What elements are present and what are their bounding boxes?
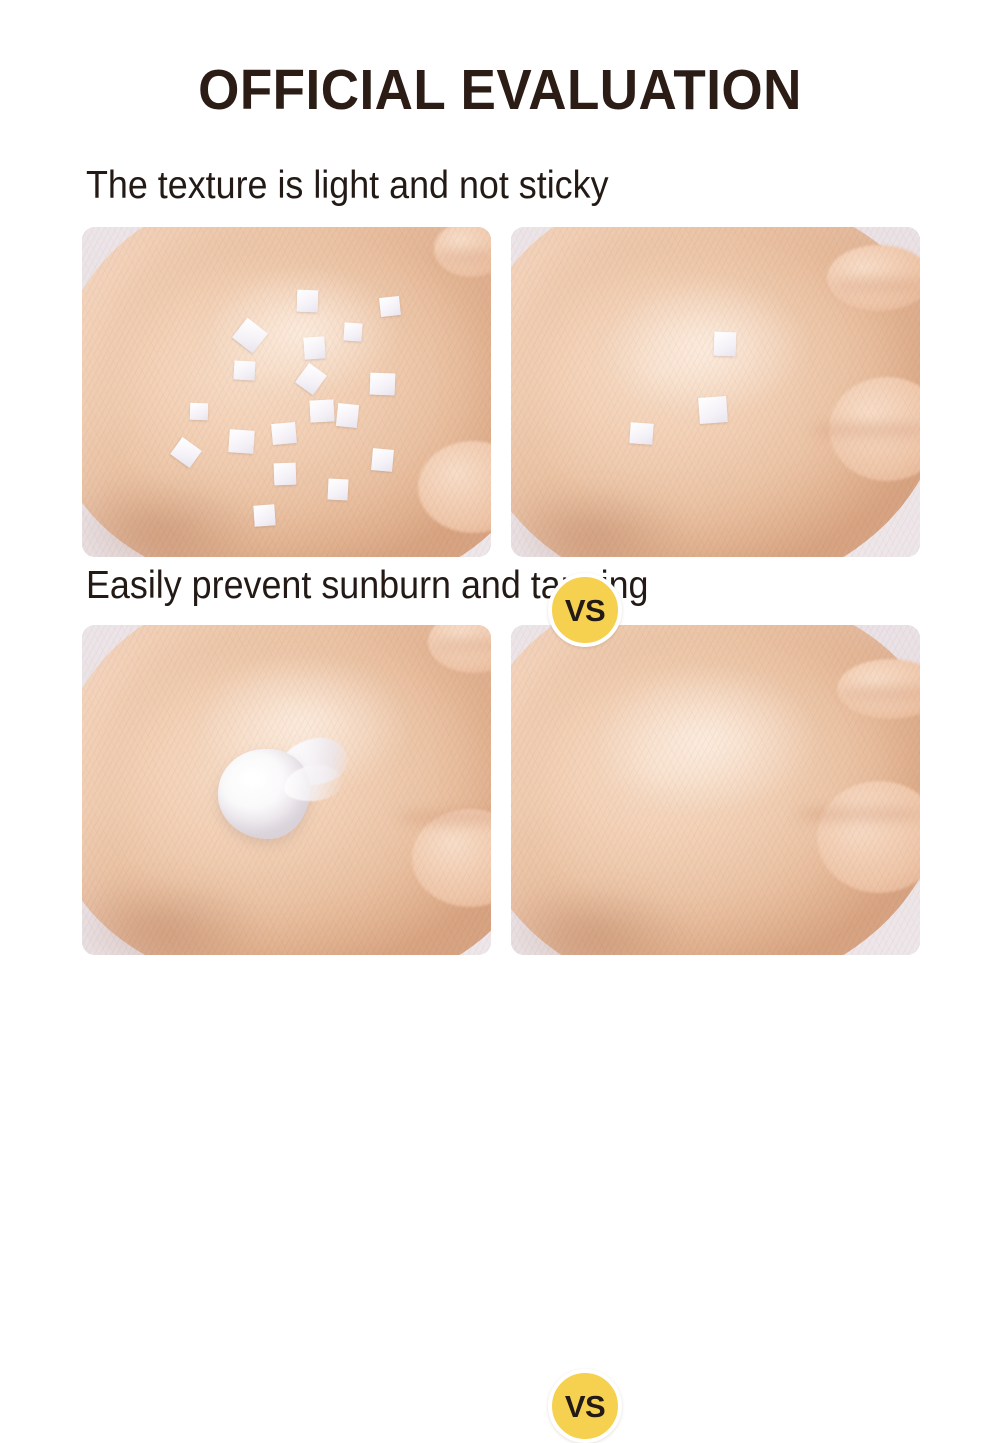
- white-flake: [629, 422, 653, 445]
- page-title: OFFICIAL EVALUATION: [35, 62, 965, 119]
- cream-dollop: [218, 739, 338, 839]
- skin-texture: [82, 227, 491, 557]
- white-flake: [336, 403, 359, 428]
- white-flake: [379, 296, 401, 317]
- panel-absorbed-cream-bare-hand: [511, 625, 920, 955]
- vs-badge-label: VS: [565, 595, 605, 626]
- vs-badge-label: VS: [565, 1391, 605, 1422]
- white-flake: [309, 399, 334, 422]
- photo-hand-with-cream: [82, 625, 491, 955]
- vs-badge-sunburn: VS: [548, 1369, 622, 1443]
- white-flake: [371, 448, 394, 472]
- comparison-row-sunburn: VS: [82, 625, 920, 955]
- product-evaluation-page: OFFICIAL EVALUATION The texture is light…: [0, 0, 1000, 1000]
- skin-texture: [511, 625, 920, 955]
- section-heading-texture: The texture is light and not sticky: [86, 166, 609, 205]
- white-flake: [297, 290, 319, 313]
- panel-cream-dollop-on-hand: [82, 625, 491, 955]
- white-flake: [253, 504, 275, 526]
- white-flake: [190, 403, 209, 421]
- photo-hand-few-flakes: [511, 227, 920, 557]
- white-flake: [343, 322, 362, 341]
- white-flake: [327, 478, 348, 500]
- cream-highlight: [232, 763, 274, 793]
- photo-hand-many-flakes: [82, 227, 491, 557]
- white-flake: [714, 332, 737, 357]
- white-flake: [228, 429, 255, 454]
- white-flake: [234, 360, 256, 380]
- panel-many-white-flakes-on-hand: [82, 227, 491, 557]
- white-flake: [698, 396, 728, 424]
- white-flake: [271, 422, 297, 445]
- skin-texture: [511, 227, 920, 557]
- comparison-row-texture: VS: [82, 227, 920, 557]
- white-flake: [303, 336, 325, 359]
- vs-badge-texture: VS: [548, 573, 622, 647]
- white-flake: [370, 373, 396, 396]
- photo-hand-absorbed: [511, 625, 920, 955]
- panel-few-white-flakes-on-hand: [511, 227, 920, 557]
- white-flake: [274, 463, 297, 486]
